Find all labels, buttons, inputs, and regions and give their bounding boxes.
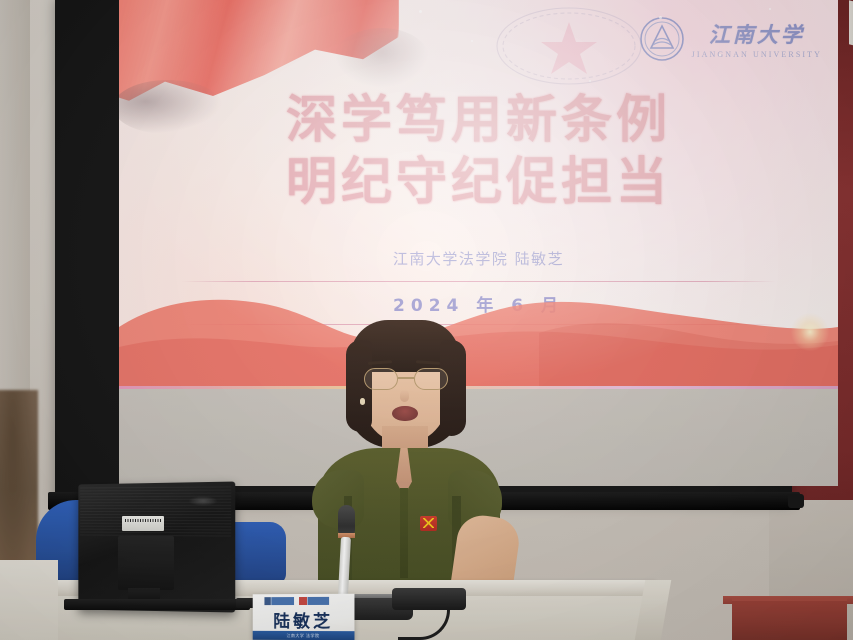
sparkle xyxy=(471,40,473,42)
earring xyxy=(360,398,365,405)
monitor-brand-mark xyxy=(188,496,218,506)
slide-subtitle: 江南大学法学院 陆敏芝 xyxy=(119,248,838,269)
desk-left-section xyxy=(0,560,58,640)
nameplate-logos xyxy=(264,597,329,605)
sparkle xyxy=(589,80,591,82)
university-name-cn: 江南大学 xyxy=(709,19,805,49)
glasses-icon xyxy=(362,368,450,390)
nameplate-band: 江南大学 法学院 xyxy=(253,631,355,640)
desk-control-device[interactable] xyxy=(392,588,466,610)
university-name-en: JIANGNAN UNIVERSITY xyxy=(692,50,822,59)
party-emblem-pin-icon xyxy=(420,516,437,531)
slide-title-line-1: 深学笃用新条例 xyxy=(119,90,838,152)
sparkle xyxy=(419,10,422,13)
desk-nameplate: 陆敏芝 江南大学 法学院 xyxy=(253,594,355,640)
slide-title-line-2: 明纪守纪促担当 xyxy=(119,152,838,214)
glasses-lens-right xyxy=(414,368,448,390)
sparkle xyxy=(659,16,662,19)
glasses-lens-left xyxy=(364,368,398,390)
mouth xyxy=(392,406,418,421)
university-logo-text: 江南大学 JIANGNAN UNIVERSITY xyxy=(692,19,822,59)
banner-shadow-secondary xyxy=(334,28,429,88)
gear-star-emblem-icon xyxy=(479,0,659,92)
slide-title: 深学笃用新条例 明纪守纪促担当 xyxy=(119,90,838,214)
nameplate-logo-secondary-icon xyxy=(299,597,329,605)
sun-glint xyxy=(791,313,829,351)
photo-scene: 江南大学 JIANGNAN UNIVERSITY 深学笃用新条例 明纪守纪促担当… xyxy=(0,0,853,640)
monitor-base xyxy=(64,599,250,610)
nameplate-logo-primary-icon xyxy=(264,597,294,605)
sparkle xyxy=(719,54,721,56)
nose xyxy=(400,390,409,402)
wooden-podium xyxy=(732,598,847,640)
monitor-vesa-plate xyxy=(118,536,174,590)
jiangnan-university-crest-icon xyxy=(639,16,685,62)
sparkle xyxy=(769,8,771,10)
glasses-bridge xyxy=(398,377,414,379)
nameplate-side-fold xyxy=(849,0,853,47)
screen-pull-knob[interactable] xyxy=(788,494,804,508)
monitor-asset-label xyxy=(122,516,164,531)
dress-placket xyxy=(400,488,408,578)
nameplate-name: 陆敏芝 xyxy=(253,607,355,632)
nameplate-band-text: 江南大学 法学院 xyxy=(253,633,355,639)
university-logo: 江南大学 JIANGNAN UNIVERSITY xyxy=(639,16,822,62)
microphone-head-icon xyxy=(338,505,355,535)
